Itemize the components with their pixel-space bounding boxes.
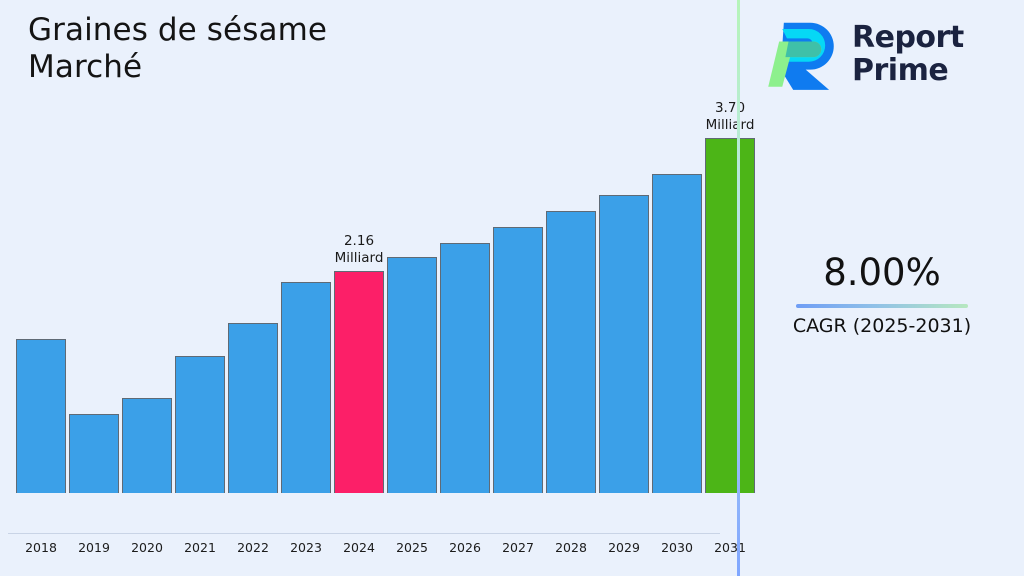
brand-panel: Report Prime 8.00% CAGR (2025-2031)	[740, 0, 1024, 576]
bar-2023[interactable]	[281, 282, 331, 493]
x-tick-label-2020: 2020	[117, 540, 177, 555]
x-tick-label-2019: 2019	[64, 540, 124, 555]
report-prime-logo: Report Prime	[762, 12, 1012, 96]
cagr-caption: CAGR (2025-2031)	[740, 314, 1024, 339]
bar-2024[interactable]: 2.16 Milliard	[334, 271, 384, 493]
screenshot-root: Graines de sésame Marché 2.16 Milliard3.…	[0, 0, 1024, 576]
bar-2026[interactable]	[440, 243, 490, 493]
x-axis-line	[8, 533, 720, 534]
x-tick-label-2030: 2030	[647, 540, 707, 555]
bar-2018[interactable]	[16, 339, 66, 493]
bar-rect-2029[interactable]	[599, 195, 649, 493]
x-tick-label-2027: 2027	[488, 540, 548, 555]
bar-rect-2027[interactable]	[493, 227, 543, 493]
bar-2020[interactable]	[122, 398, 172, 493]
bar-2028[interactable]	[546, 211, 596, 493]
bar-2021[interactable]	[175, 356, 225, 493]
chart-panel: Graines de sésame Marché 2.16 Milliard3.…	[0, 0, 738, 576]
bar-2030[interactable]	[652, 174, 702, 493]
cagr-block: 8.00% CAGR (2025-2031)	[740, 250, 1024, 339]
bar-2022[interactable]	[228, 323, 278, 493]
bar-rect-2021[interactable]	[175, 356, 225, 493]
bar-2027[interactable]	[493, 227, 543, 493]
x-tick-label-2025: 2025	[382, 540, 442, 555]
bar-rect-2030[interactable]	[652, 174, 702, 493]
bar-rect-2022[interactable]	[228, 323, 278, 493]
report-prime-logo-text: Report Prime	[852, 21, 964, 87]
x-tick-label-2024: 2024	[329, 540, 389, 555]
bar-rect-2019[interactable]	[69, 414, 119, 493]
x-tick-label-2021: 2021	[170, 540, 230, 555]
bar-2025[interactable]	[387, 257, 437, 493]
bar-rect-2025[interactable]	[387, 257, 437, 493]
report-prime-logo-mark-icon	[762, 15, 840, 93]
cagr-divider-rule	[796, 304, 968, 308]
x-tick-label-2028: 2028	[541, 540, 601, 555]
bar-rect-2020[interactable]	[122, 398, 172, 493]
x-tick-label-2023: 2023	[276, 540, 336, 555]
x-tick-label-2018: 2018	[11, 540, 71, 555]
bar-rect-2023[interactable]	[281, 282, 331, 493]
bar-rect-2018[interactable]	[16, 339, 66, 493]
cagr-value: 8.00%	[740, 250, 1024, 296]
bar-rect-2026[interactable]	[440, 243, 490, 493]
bar-2019[interactable]	[69, 414, 119, 493]
bar-2029[interactable]	[599, 195, 649, 493]
bar-chart-plot: 2.16 Milliard3.70 Milliard	[0, 0, 738, 536]
x-tick-label-2026: 2026	[435, 540, 495, 555]
x-tick-label-2022: 2022	[223, 540, 283, 555]
x-tick-label-2029: 2029	[594, 540, 654, 555]
bar-rect-2024[interactable]	[334, 271, 384, 493]
bar-rect-2028[interactable]	[546, 211, 596, 493]
